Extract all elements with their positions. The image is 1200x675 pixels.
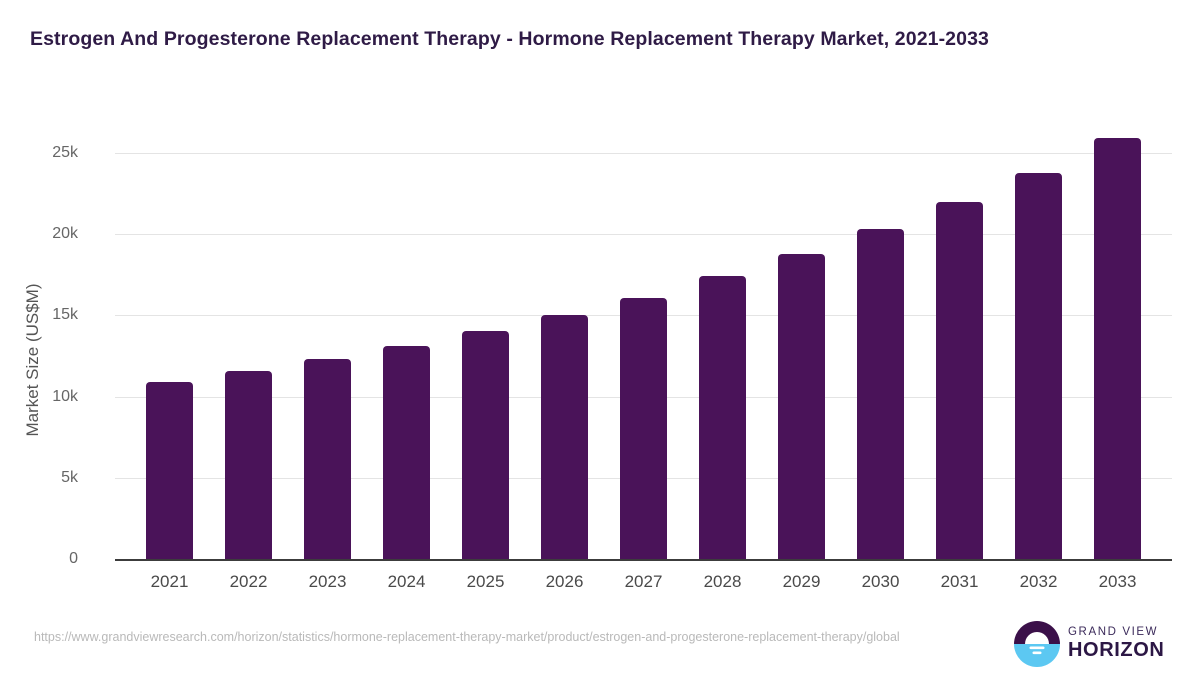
x-axis-tick-label: 2031	[915, 572, 1005, 592]
logo-text-grand-view: GRAND VIEW	[1068, 625, 1164, 639]
y-axis-tick-label: 20k	[8, 225, 78, 243]
bar[interactable]	[778, 254, 825, 559]
gridline	[115, 153, 1172, 154]
x-axis-tick-label: 2028	[678, 572, 768, 592]
y-axis-tick-label: 5k	[8, 469, 78, 487]
x-axis-tick-label: 2025	[441, 572, 531, 592]
x-axis-tick-label: 2022	[204, 572, 294, 592]
x-axis-tick-label: 2024	[362, 572, 452, 592]
y-axis-tick-label: 10k	[8, 388, 78, 406]
brand-logo[interactable]: GRAND VIEW HORIZON	[1014, 619, 1174, 669]
bar[interactable]	[1015, 173, 1062, 560]
bar[interactable]	[383, 346, 430, 559]
bar-chart: Market Size (US$M) 05k10k15k20k25k 20212…	[0, 0, 1200, 612]
x-axis-tick-label: 2029	[757, 572, 847, 592]
x-axis-tick-label: 2021	[125, 572, 215, 592]
x-axis-tick-label: 2030	[836, 572, 926, 592]
bar[interactable]	[462, 331, 509, 559]
x-axis-tick-label: 2033	[1073, 572, 1163, 592]
x-axis-tick-label: 2023	[283, 572, 373, 592]
y-axis-tick-label: 25k	[8, 144, 78, 162]
plot-area: 05k10k15k20k25k 202120222023202420252026…	[115, 140, 1172, 559]
bar[interactable]	[304, 359, 351, 559]
bar[interactable]	[936, 202, 983, 559]
bar[interactable]	[699, 276, 746, 559]
x-axis-tick-label: 2032	[994, 572, 1084, 592]
bar[interactable]	[146, 382, 193, 559]
bar[interactable]	[1094, 138, 1141, 559]
x-axis-tick-label: 2027	[599, 572, 689, 592]
logo-text-horizon: HORIZON	[1068, 639, 1164, 662]
x-axis-tick-label: 2026	[520, 572, 610, 592]
y-axis-title: Market Size (US$M)	[23, 160, 43, 560]
gridline	[115, 234, 1172, 235]
bar[interactable]	[541, 315, 588, 559]
chart-page: Estrogen And Progesterone Replacement Th…	[0, 0, 1200, 675]
bar[interactable]	[225, 371, 272, 559]
x-axis-line	[115, 559, 1172, 561]
bar[interactable]	[620, 298, 667, 559]
logo-wordmark: GRAND VIEW HORIZON	[1068, 625, 1164, 662]
y-axis-tick-label: 15k	[8, 306, 78, 324]
y-axis-tick-label: 0	[8, 550, 78, 568]
grand-view-horizon-logo-mark-icon	[1014, 621, 1060, 667]
bar[interactable]	[857, 229, 904, 559]
source-url[interactable]: https://www.grandviewresearch.com/horizo…	[34, 629, 969, 646]
